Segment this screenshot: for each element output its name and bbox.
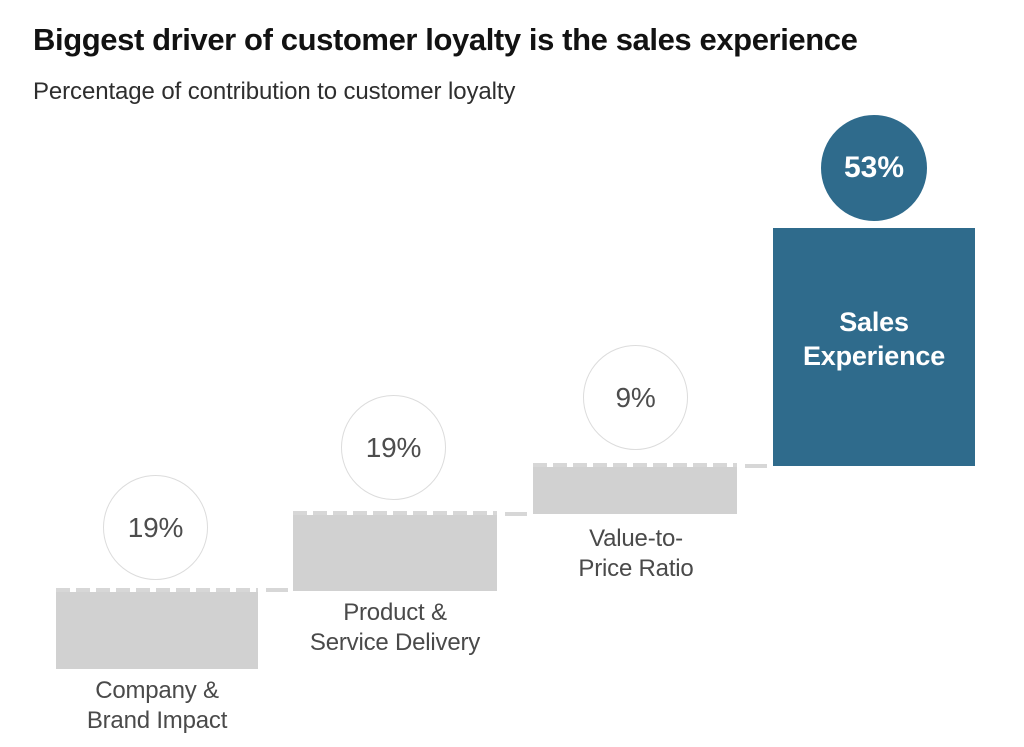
- bar-top-cap-icon: [56, 588, 258, 592]
- bar-company-brand-impact[interactable]: [56, 592, 258, 669]
- category-label-company-brand-impact: Company & Brand Impact: [37, 676, 277, 736]
- category-label-sales-experience: Sales Experience: [755, 305, 993, 373]
- value-bubble-company-brand-impact: 19%: [103, 475, 208, 580]
- bar-value-to-price-ratio[interactable]: [533, 467, 737, 514]
- category-label-value-to-price-ratio: Value-to- Price Ratio: [516, 524, 756, 584]
- value-bubble-sales-experience: 53%: [821, 115, 927, 221]
- bar-top-cap-icon: [293, 511, 497, 515]
- connector-dash-3: [745, 464, 767, 468]
- waterfall-plot: 19% Company & Brand Impact 19% Product &…: [0, 0, 1024, 747]
- connector-dash-2: [505, 512, 527, 516]
- value-bubble-product-service-delivery: 19%: [341, 395, 446, 500]
- category-label-product-service-delivery: Product & Service Delivery: [275, 598, 515, 658]
- bar-product-service-delivery[interactable]: [293, 515, 497, 591]
- bar-top-cap-icon: [533, 463, 737, 467]
- value-bubble-value-to-price-ratio: 9%: [583, 345, 688, 450]
- chart-canvas: Biggest driver of customer loyalty is th…: [0, 0, 1024, 747]
- connector-dash-1: [266, 588, 288, 592]
